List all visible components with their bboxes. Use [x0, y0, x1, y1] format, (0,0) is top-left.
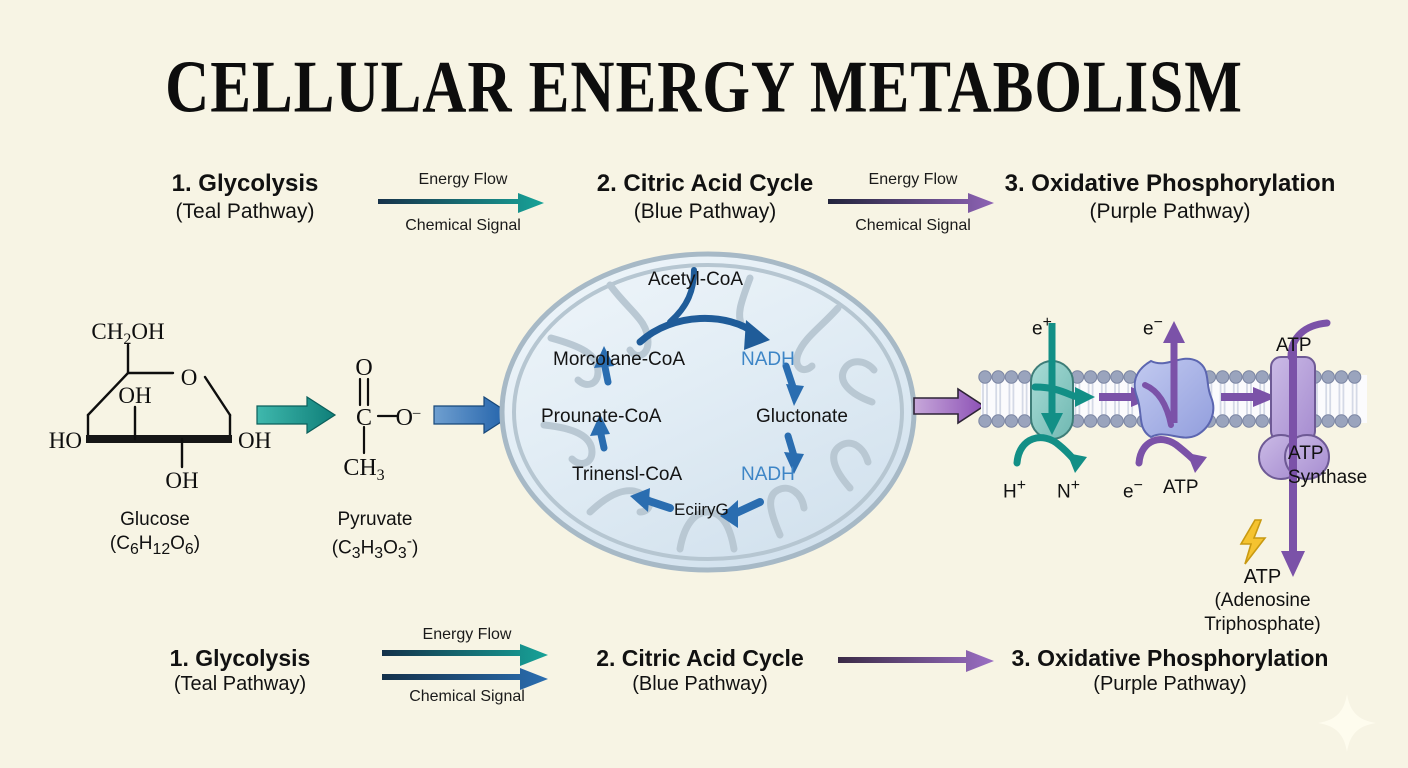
pyruvate-atom-o-top: O: [355, 355, 372, 381]
sparkle-icon: [1312, 690, 1382, 756]
legend-label-chemical-signal: Chemical Signal: [378, 217, 548, 235]
glucose-name: Glucose: [45, 508, 265, 532]
arrow-teal-gradient-icon: [378, 190, 548, 216]
arrow-purple-gradient-icon: [828, 190, 998, 216]
etc-label-e-minus-top: e−: [1143, 314, 1163, 340]
etc-label-atp-top: ATP: [1276, 335, 1312, 357]
stage-title: 3. Oxidative Phosphorylation: [960, 170, 1380, 198]
etc-label-n-plus: N+: [1057, 477, 1080, 503]
legend-stage-subtitle: (Teal Pathway): [50, 673, 430, 696]
bottom-legend-glycolysis: 1. Glycolysis (Teal Pathway): [50, 645, 430, 696]
mito-label-acetyl-coa: Acetyl-CoA: [648, 269, 743, 291]
legend-stage-subtitle: (Blue Pathway): [510, 673, 890, 696]
legend-label-energy-flow: Energy Flow: [382, 626, 552, 644]
glucose-atom-ch2oh: CH2OH: [91, 319, 164, 348]
etc-label-atp-bottom: ATP: [1163, 477, 1199, 499]
mito-label-prounate-coa: Prounate-CoA: [541, 406, 661, 428]
etc-complex-2: [1135, 321, 1214, 473]
glucose-atom-oh-bottom: OH: [165, 468, 198, 493]
legend-stage-title: 2. Citric Acid Cycle: [510, 645, 890, 672]
pyruvate-atom-ch3: CH3: [343, 455, 384, 484]
legend-stage-subtitle: (Purple Pathway): [960, 673, 1380, 696]
mito-label-gluctonate: Gluctonate: [756, 406, 848, 428]
diagram-canvas: CELLULAR ENERGY METABOLISM 1. Glycolysis…: [0, 0, 1408, 768]
mito-label-nadh-2: NADH: [741, 464, 795, 486]
legend-label-chemical-signal: Chemical Signal: [382, 688, 552, 706]
mito-label-trinensl-coa: Trinensl-CoA: [572, 464, 682, 486]
glucose-atom-ring-o: O: [181, 365, 198, 390]
page-title: CELLULAR ENERGY METABOLISM: [21, 44, 1387, 130]
bottom-legend-arrow-purple: [838, 648, 998, 674]
legend-stage-title: 1. Glycolysis: [50, 645, 430, 672]
bottom-legend-citric-acid-cycle: 2. Citric Acid Cycle (Blue Pathway): [510, 645, 890, 696]
pyruvate-name: Pyruvate: [295, 508, 455, 532]
bottom-legend-oxidative-phosphorylation: 3. Oxidative Phosphorylation (Purple Pat…: [960, 645, 1380, 696]
atp-output-sub-2: Triphosphate): [1170, 613, 1355, 636]
header-legend-arrow-teal: Energy Flow Chemical Signal: [378, 171, 548, 235]
legend-stage-title: 3. Oxidative Phosphorylation: [960, 645, 1380, 672]
mito-label-nadh-1: NADH: [741, 349, 795, 371]
lightning-bolt-icon: [1233, 518, 1273, 566]
etc-label-h-plus: H+: [1003, 477, 1026, 503]
glucose-atom-oh-inner: OH: [118, 383, 151, 408]
etc-label-e-plus-top: e+: [1032, 314, 1052, 340]
arrow-pair-teal-blue-icon: [382, 644, 552, 688]
pyruvate-atom-o-minus: O–: [396, 405, 421, 431]
atp-output-sub-1: (Adenosine: [1170, 589, 1355, 612]
legend-label-energy-flow: Energy Flow: [378, 171, 548, 189]
glucose-atom-ho-left: HO: [49, 428, 82, 453]
stage-header-oxidative-phosphorylation: 3. Oxidative Phosphorylation (Purple Pat…: [960, 170, 1380, 224]
pyruvate-label: Pyruvate (C3H3O3-): [295, 508, 455, 565]
mito-label-morcolane-coa: Morcolane-CoA: [553, 349, 685, 371]
glucose-label: Glucose (C6H12O6): [45, 508, 265, 560]
etc-label-atp-synthase: ATP Synthase: [1288, 442, 1367, 490]
pyruvate-formula: (C3H3O3-): [295, 532, 455, 564]
atp-output-name: ATP: [1170, 565, 1355, 589]
header-legend-arrow-purple: Energy Flow Chemical Signal: [828, 171, 998, 235]
bottom-legend-arrow-pair: Energy Flow Chemical Signal: [382, 626, 552, 706]
pyruvate-atom-c: C: [356, 405, 372, 431]
glucose-formula: (C6H12O6): [45, 532, 265, 560]
mito-label-eciiryg: EciiryG: [674, 500, 729, 520]
stage-subtitle: (Purple Pathway): [960, 200, 1380, 224]
etc-label-e-minus-bottom: e−: [1123, 477, 1143, 503]
legend-label-chemical-signal: Chemical Signal: [828, 217, 998, 235]
atp-output-label: ATP (Adenosine Triphosphate): [1170, 565, 1355, 636]
legend-label-energy-flow: Energy Flow: [828, 171, 998, 189]
